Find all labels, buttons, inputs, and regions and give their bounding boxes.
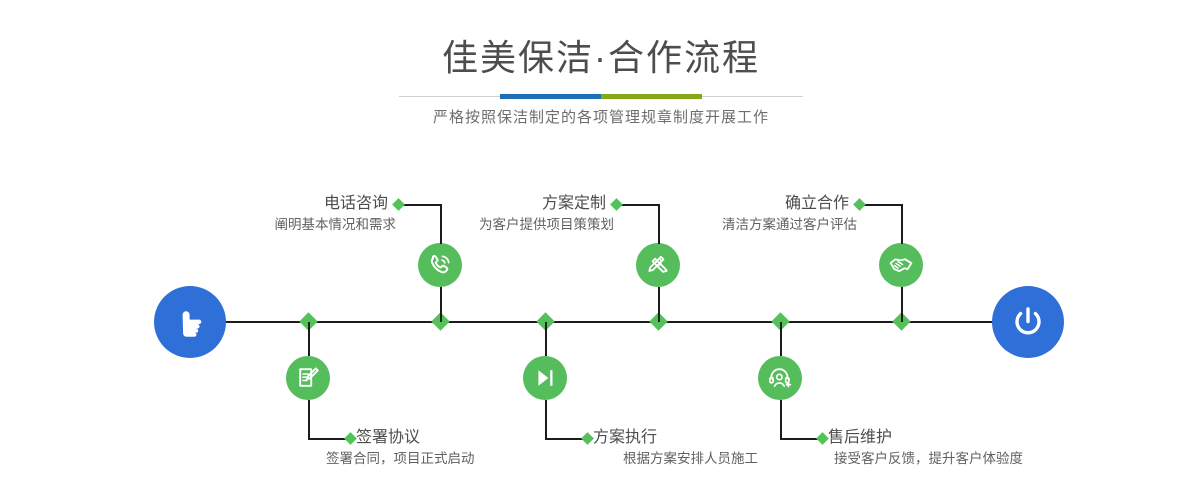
pencil-ruler-icon bbox=[645, 252, 671, 278]
step-elbow-horizontal bbox=[400, 204, 441, 206]
step-label: 方案定制 bbox=[542, 194, 606, 214]
step-label: 电话咨询 bbox=[324, 194, 388, 214]
step-description: 清洁方案通过客户评估 bbox=[722, 216, 857, 234]
step-connector-tip bbox=[581, 432, 594, 445]
step-icon-pencil-ruler[interactable] bbox=[636, 243, 680, 287]
step-elbow-vertical bbox=[545, 400, 547, 439]
step-description: 接受客户反馈，提升客户体验度 bbox=[834, 450, 1023, 468]
timeline-stem bbox=[440, 287, 442, 322]
step-elbow-vertical bbox=[658, 204, 660, 244]
step-connector-tip bbox=[344, 432, 357, 445]
step-elbow-horizontal bbox=[618, 204, 659, 206]
power-icon bbox=[1009, 303, 1047, 341]
timeline-stem bbox=[658, 287, 660, 322]
step-elbow-horizontal bbox=[308, 438, 349, 440]
step-elbow-vertical bbox=[440, 204, 442, 244]
step-label: 确立合作 bbox=[785, 194, 849, 214]
step-icon-phone-call[interactable] bbox=[418, 243, 462, 287]
timeline-end-power-button[interactable] bbox=[992, 286, 1064, 358]
play-execute-icon bbox=[532, 365, 558, 391]
step-elbow-horizontal bbox=[780, 438, 821, 440]
step-description: 签署合同，项目正式启动 bbox=[326, 450, 475, 468]
step-connector-tip bbox=[610, 198, 623, 211]
step-icon-play-execute[interactable] bbox=[523, 356, 567, 400]
step-elbow-vertical bbox=[901, 204, 903, 244]
step-description: 阐明基本情况和需求 bbox=[275, 216, 397, 234]
step-icon-support-agent[interactable] bbox=[758, 356, 802, 400]
timeline-start-pointing-hand-button[interactable] bbox=[154, 286, 226, 358]
step-elbow-vertical bbox=[308, 400, 310, 439]
handshake-icon bbox=[888, 252, 915, 279]
step-elbow-vertical bbox=[780, 400, 782, 439]
step-connector-tip bbox=[816, 432, 829, 445]
step-label: 签署协议 bbox=[356, 428, 420, 448]
document-edit-icon bbox=[295, 365, 321, 391]
step-label: 方案执行 bbox=[593, 428, 657, 448]
timeline-stem bbox=[780, 322, 782, 356]
timeline-stem bbox=[308, 322, 310, 356]
timeline-stem bbox=[545, 322, 547, 356]
step-connector-tip bbox=[392, 198, 405, 211]
support-agent-icon bbox=[767, 365, 793, 391]
process-flow-timeline: 电话咨询 阐明基本情况和需求 签署协议 签署合同，项目正式启动 bbox=[0, 0, 1202, 502]
pointing-hand-icon bbox=[170, 302, 210, 342]
step-icon-handshake[interactable] bbox=[879, 243, 923, 287]
step-elbow-horizontal bbox=[545, 438, 586, 440]
timeline-stem bbox=[901, 287, 903, 322]
step-connector-tip bbox=[853, 198, 866, 211]
step-description: 为客户提供项目策策划 bbox=[479, 216, 614, 234]
step-description: 根据方案安排人员施工 bbox=[623, 450, 758, 468]
phone-call-icon bbox=[427, 252, 453, 278]
step-label: 售后维护 bbox=[828, 428, 892, 448]
step-icon-document-edit[interactable] bbox=[286, 356, 330, 400]
step-elbow-horizontal bbox=[861, 204, 902, 206]
